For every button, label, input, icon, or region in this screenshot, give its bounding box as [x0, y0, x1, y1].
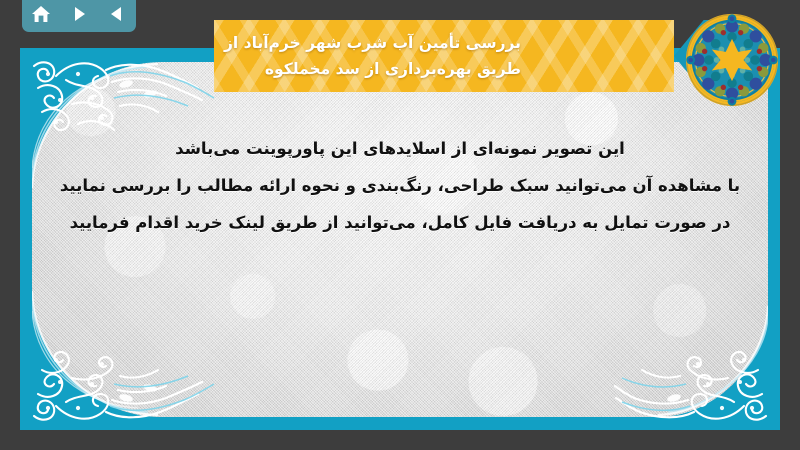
ornamental-medallion-icon: [684, 12, 780, 108]
title-line-1: بررسی تأمین آب شرب شهر خرم‌آباد از: [224, 30, 521, 56]
slide-body-text: این تصویر نمونه‌ای از اسلایدهای این پاور…: [32, 130, 768, 241]
slide-title: بررسی تأمین آب شرب شهر خرم‌آباد از طریق …: [214, 30, 537, 82]
navigation-bar: [22, 0, 136, 32]
slide-title-banner: بررسی تأمین آب شرب شهر خرم‌آباد از طریق …: [214, 20, 752, 92]
title-band: بررسی تأمین آب شرب شهر خرم‌آباد از طریق …: [214, 20, 674, 92]
home-button[interactable]: [28, 2, 54, 26]
home-icon: [31, 5, 51, 24]
prev-button[interactable]: [104, 2, 130, 26]
triangle-right-icon: [70, 5, 88, 23]
title-line-2: طریق بهره‌برداری از سد مخملکوه: [224, 56, 521, 82]
body-line-1: این تصویر نمونه‌ای از اسلایدهای این پاور…: [32, 130, 768, 167]
next-button[interactable]: [66, 2, 92, 26]
slide-canvas: این تصویر نمونه‌ای از اسلایدهای این پاور…: [0, 0, 800, 450]
triangle-left-icon: [108, 5, 126, 23]
body-line-3: در صورت تمایل به دریافت فایل کامل، می‌تو…: [32, 204, 768, 241]
body-line-2: با مشاهده آن می‌توانید سبک طراحی، رنگ‌بن…: [32, 167, 768, 204]
